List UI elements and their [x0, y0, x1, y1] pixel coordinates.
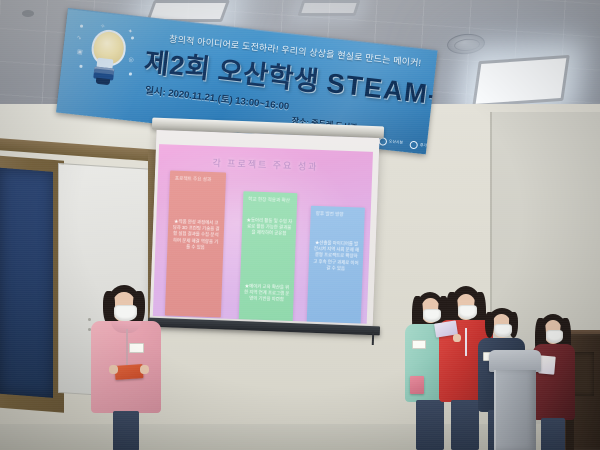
projection-screen: 각 프로젝트 주요 성과 프로젝트 주요 성과 ★작품 완성 과정에서 코딩과 …: [150, 130, 380, 332]
panel-body: ★작품 완성 과정에서 코딩과 3D 프린팅 기술을 결합 실험 결과를 수집·…: [171, 219, 220, 252]
ceiling-sensor-icon: [22, 10, 34, 17]
ceiling-light-panel-dim: [297, 0, 360, 16]
lanyard: [465, 328, 467, 356]
legs: [113, 411, 139, 450]
presenter: [85, 285, 171, 450]
panel-body-2: ★메이커 교육 확산을 위한 지역 연계 프로그램 운영의 기반을 마련함: [243, 283, 290, 303]
panel-heading: 프로젝트 주요 성과: [175, 176, 221, 184]
legs: [451, 400, 479, 450]
hand-left: [109, 365, 118, 374]
panel-heading: 향후 발전 방향: [316, 211, 360, 219]
legs: [541, 418, 565, 450]
panel-heading: 학교 현장 적용과 확산: [248, 196, 292, 204]
bulletin-board: [0, 155, 64, 413]
hand-right: [140, 365, 149, 374]
face-mask: [458, 305, 477, 319]
face-mask: [546, 330, 563, 343]
lectern-body: [494, 370, 536, 450]
panel-body: ★산출물 아이디어를 발전시켜 지역 사회 문제 해결형 프로젝트로 확장하고 …: [313, 240, 360, 273]
slide-panel-blue: 향후 발전 방향 ★산출물 아이디어를 발전시켜 지역 사회 문제 해결형 프로…: [307, 206, 365, 324]
hair-left: [485, 312, 494, 338]
slide-panel-pink: 프로젝트 주요 성과 ★작품 완성 과정에서 코딩과 3D 프린팅 기술을 결합…: [165, 171, 226, 318]
lectern-top: [489, 350, 541, 372]
ceiling-light-panel: [472, 55, 570, 107]
bulletin-board-face: [0, 168, 53, 398]
face-mask: [114, 305, 137, 321]
panel-body: ★동아리 활동 및 수업 자료로 활용 가능한 결과물을 제작하여 공유함: [246, 217, 293, 237]
pink-card: [410, 376, 424, 394]
hand-raised: [453, 334, 461, 342]
lectern: [489, 350, 541, 450]
lanyard: [126, 329, 128, 369]
orange-booklet: [115, 364, 144, 380]
photo-scene: ∿ ✦ ▣ ◎ ✧ 창의적 아이디어로 도전하라! 우리의 상상을 현실로 만드…: [0, 0, 600, 450]
slide-panel-green: 학교 현장 적용과 확산 ★동아리 활동 및 수업 자료로 활용 가능한 결과물…: [239, 191, 298, 324]
lectern-edge-highlight: [494, 370, 496, 450]
name-tag: [129, 343, 144, 353]
lightbulb-icon: ∿ ✦ ▣ ◎ ✧: [71, 20, 140, 93]
face-mask: [494, 324, 512, 337]
slide-panels: 프로젝트 주요 성과 ★작품 완성 과정에서 코딩과 3D 프린팅 기술을 결합…: [161, 170, 364, 317]
projected-slide: 각 프로젝트 주요 성과 프로젝트 주요 성과 ★작품 완성 과정에서 코딩과 …: [153, 144, 373, 324]
sponsor-mark-icon: [409, 140, 418, 149]
name-tag: [412, 340, 426, 349]
